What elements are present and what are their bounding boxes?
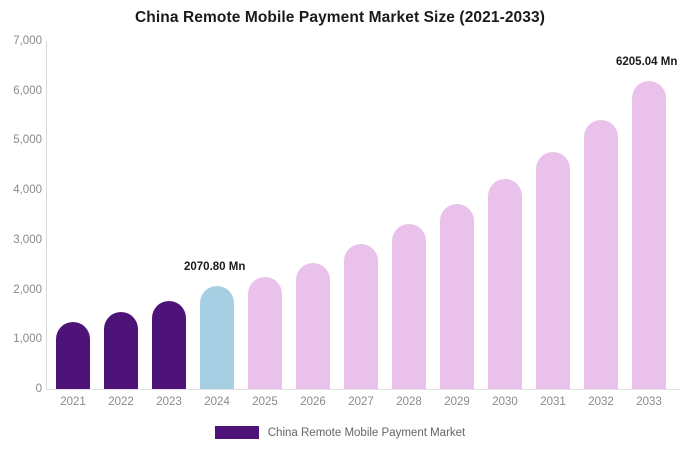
x-axis-line — [46, 389, 680, 390]
bar-column-2033 — [625, 41, 673, 389]
y-axis-tick-1000: 1,000 — [2, 333, 42, 345]
bar-2021[interactable] — [56, 322, 90, 389]
x-axis-tick-2026: 2026 — [289, 396, 337, 408]
x-axis-tick-2028: 2028 — [385, 396, 433, 408]
plot-area — [46, 41, 680, 389]
data-label-2024: 2070.80 Mn — [184, 261, 245, 273]
data-label-2033: 6205.04 Mn — [616, 56, 677, 68]
x-axis-tick-2033: 2033 — [625, 396, 673, 408]
chart-legend: China Remote Mobile Payment Market — [0, 426, 680, 439]
bar-2029[interactable] — [440, 204, 474, 389]
y-axis-tick-5000: 5,000 — [2, 134, 42, 146]
bar-column-2025 — [241, 41, 289, 389]
bar-2025[interactable] — [248, 277, 282, 389]
x-axis-tick-2024: 2024 — [193, 396, 241, 408]
x-axis-tick-2027: 2027 — [337, 396, 385, 408]
bar-2033[interactable] — [632, 81, 666, 389]
bar-2032[interactable] — [584, 120, 618, 389]
bar-column-2024 — [193, 41, 241, 389]
bar-2024[interactable] — [200, 286, 234, 389]
y-axis-tick-2000: 2,000 — [2, 284, 42, 296]
bar-column-2021 — [49, 41, 97, 389]
bar-column-2023 — [145, 41, 193, 389]
y-axis-tick-7000: 7,000 — [2, 35, 42, 47]
bar-2028[interactable] — [392, 224, 426, 389]
bar-2022[interactable] — [104, 312, 138, 389]
x-axis-tick-2032: 2032 — [577, 396, 625, 408]
chart-title: China Remote Mobile Payment Market Size … — [0, 9, 680, 27]
y-axis-tick-6000: 6,000 — [2, 85, 42, 97]
y-axis-tick-3000: 3,000 — [2, 234, 42, 246]
y-axis-tick-labels: 7,0006,0005,0004,0003,0002,0001,0000 — [0, 0, 42, 450]
bar-column-2029 — [433, 41, 481, 389]
y-axis-tick-4000: 4,000 — [2, 184, 42, 196]
y-axis-tick-0: 0 — [2, 383, 42, 395]
bar-2031[interactable] — [536, 152, 570, 389]
legend-swatch-china-remote-mobile-payment-market — [215, 426, 259, 439]
x-axis-tick-2021: 2021 — [49, 396, 97, 408]
bar-2027[interactable] — [344, 244, 378, 389]
bar-column-2032 — [577, 41, 625, 389]
bar-column-2022 — [97, 41, 145, 389]
bar-2026[interactable] — [296, 263, 330, 389]
bar-column-2030 — [481, 41, 529, 389]
x-axis-tick-2031: 2031 — [529, 396, 577, 408]
bar-2023[interactable] — [152, 301, 186, 389]
x-axis-tick-2023: 2023 — [145, 396, 193, 408]
bar-column-2027 — [337, 41, 385, 389]
x-axis-tick-2030: 2030 — [481, 396, 529, 408]
x-axis-tick-2029: 2029 — [433, 396, 481, 408]
bar-2030[interactable] — [488, 179, 522, 389]
bar-column-2026 — [289, 41, 337, 389]
bar-column-2031 — [529, 41, 577, 389]
x-axis-tick-2025: 2025 — [241, 396, 289, 408]
legend-label-china-remote-mobile-payment-market: China Remote Mobile Payment Market — [268, 427, 466, 439]
bar-chart: China Remote Mobile Payment Market Size … — [0, 0, 680, 450]
x-axis-tick-2022: 2022 — [97, 396, 145, 408]
bar-column-2028 — [385, 41, 433, 389]
